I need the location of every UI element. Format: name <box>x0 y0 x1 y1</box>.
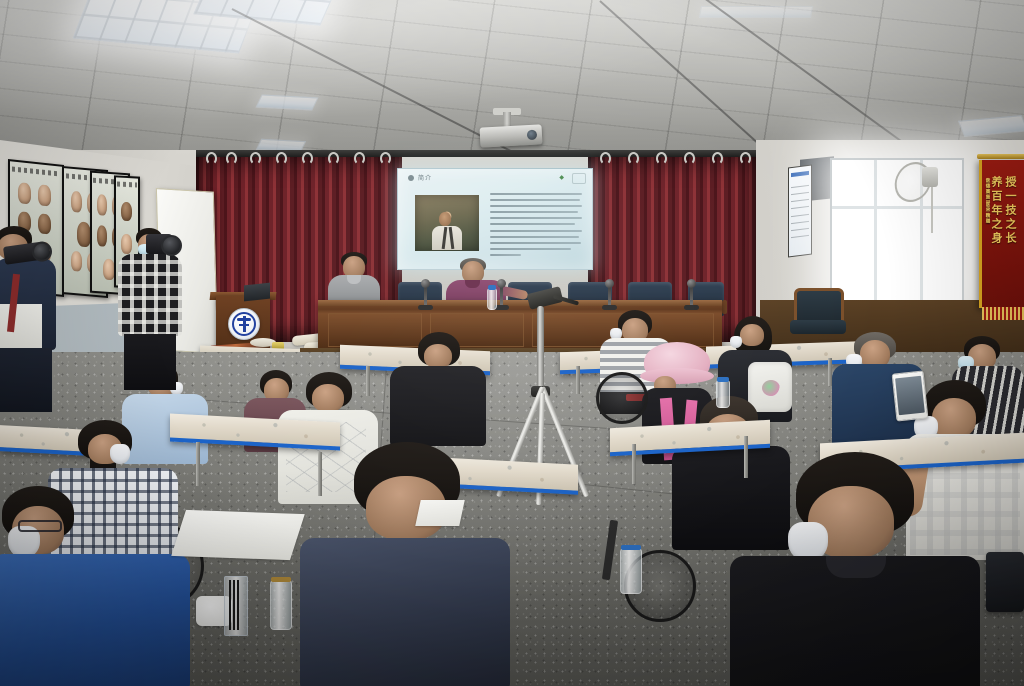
slide-title: 简介 <box>418 173 432 182</box>
attendee-black-top <box>390 332 486 444</box>
dslr-camera <box>146 234 172 254</box>
projector <box>480 124 543 147</box>
appreciation-banner: 授一技之长 养百年之身 全体康复学员 敬赠 医德高尚 医术精湛 <box>979 160 1024 308</box>
curtain-ring <box>684 152 695 165</box>
attendee-navy-tee <box>300 442 510 686</box>
banner-fringe <box>982 307 1024 320</box>
curtain-ring <box>226 152 237 165</box>
curtain-ring <box>250 152 261 165</box>
eyeglasses-icon <box>18 520 62 532</box>
paper-sheet <box>415 500 465 526</box>
pens <box>229 580 239 630</box>
torso <box>0 554 190 686</box>
phone-screen <box>895 376 925 416</box>
attendee-black-polo <box>730 452 980 686</box>
banner-rod <box>977 154 1024 159</box>
curtain-ring <box>712 152 723 165</box>
face-mask <box>730 336 742 348</box>
photo-scene: 简介 ◆ <box>0 0 1024 686</box>
curtain-ring <box>354 152 365 165</box>
head <box>312 384 344 412</box>
tripod-center-column <box>537 306 544 392</box>
curtain-ring <box>628 152 639 165</box>
slide-portrait-head <box>439 212 451 226</box>
smartphone[interactable] <box>892 370 929 421</box>
water-bottle <box>270 580 292 630</box>
curtain-ring <box>276 152 287 165</box>
head <box>424 344 452 368</box>
face-mask <box>110 444 130 464</box>
banner-line-1: 授一技之长 <box>1002 176 1018 246</box>
slide-bullet-icon <box>408 175 414 181</box>
water-bottle <box>620 548 642 594</box>
legs <box>0 348 52 412</box>
microphone <box>690 286 693 306</box>
desk-leg <box>196 442 200 486</box>
banner-side-text-left: 医德高尚 医术精湛 <box>985 178 991 224</box>
slide-portrait-body <box>432 226 462 250</box>
torso <box>390 366 486 446</box>
curtain-ring <box>600 152 611 165</box>
water-bottle <box>716 380 730 408</box>
projection-screen: 简介 ◆ <box>397 168 593 270</box>
torso <box>118 254 182 336</box>
slide-seal-icon <box>572 173 586 184</box>
curtain-ring <box>380 152 391 165</box>
wall-fan-icon <box>894 163 938 197</box>
curtain-ring <box>656 152 667 165</box>
wheelchair-wheel <box>596 372 648 424</box>
attendee-blue-jacket <box>0 486 190 686</box>
collar <box>826 556 886 578</box>
slide-portrait-photo <box>415 195 479 251</box>
tablet-device[interactable] <box>986 552 1024 612</box>
institution-emblem-icon <box>228 308 260 340</box>
hat-brim <box>640 368 714 384</box>
podium-monitor <box>244 283 270 302</box>
legs <box>124 334 176 390</box>
backpack-print <box>762 380 780 396</box>
curtain-ring <box>206 152 217 165</box>
curtain-ring <box>328 152 339 165</box>
curtain-ring <box>740 152 751 165</box>
curtain-ring <box>302 152 313 165</box>
projector-lens-icon <box>527 130 538 141</box>
slide-marker-icon: ◆ <box>559 174 564 181</box>
slide-body-text <box>490 193 582 260</box>
head <box>932 398 976 438</box>
desk-leg <box>632 444 636 484</box>
head <box>740 324 764 346</box>
paper-sheet <box>171 510 305 560</box>
torso <box>300 538 510 686</box>
microphone <box>424 286 427 306</box>
notice-board <box>788 165 812 258</box>
microphone <box>608 286 611 306</box>
